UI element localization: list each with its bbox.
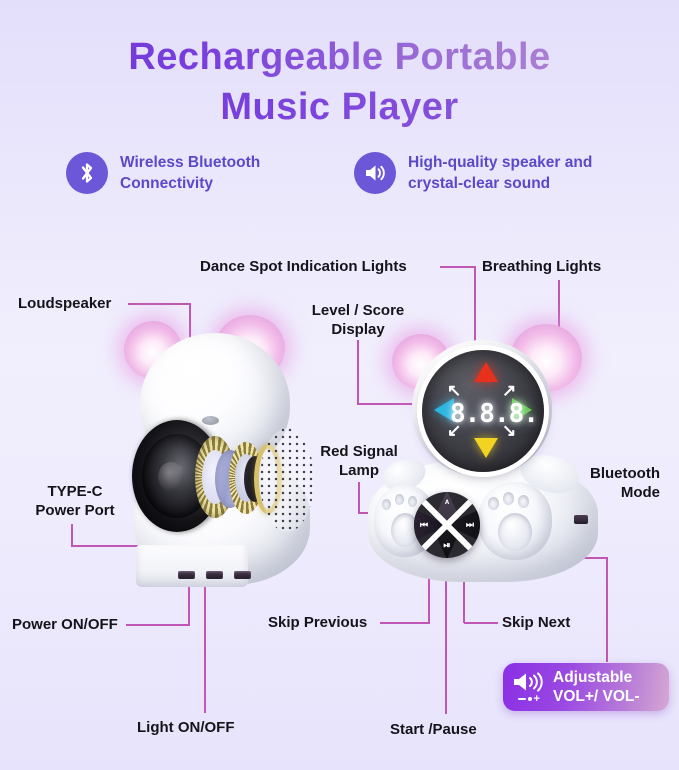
feature-bluetooth: Wireless Bluetooth Connectivity: [66, 152, 260, 194]
volume-speaker-icon: +: [512, 671, 546, 703]
product-stage: ↖ ↗ ↙ ↘ 8.8.8. ᴬ ⏮ ⏭ ⏯: [0, 240, 679, 640]
power-on-off-button[interactable]: [206, 571, 223, 579]
side-port-volume[interactable]: [574, 515, 588, 524]
paw-toe-3-right: [518, 495, 529, 508]
speaker-cone-highlight: [158, 462, 184, 492]
bluetooth-icon: [66, 152, 108, 194]
light-on-off-button[interactable]: [234, 571, 251, 579]
callout-light-on-off: Light ON/OFF: [137, 718, 234, 737]
feature-sound: High-quality speaker and crystal-clear s…: [354, 152, 592, 194]
exploded-loudspeaker-assembly: [132, 420, 292, 540]
title-line-1: Rechargeable Portable: [0, 32, 679, 82]
speaker-sound-icon: [354, 152, 396, 194]
paw-toe-1-left: [382, 499, 391, 510]
paw-toe-2-left: [395, 494, 404, 505]
feature-sound-label: High-quality speaker and crystal-clear s…: [408, 152, 592, 194]
volume-slider-glyph: +: [518, 695, 539, 703]
feature-bluetooth-label: Wireless Bluetooth Connectivity: [120, 152, 260, 194]
level-score-digits: 8.8.8.: [450, 399, 516, 429]
control-pad[interactable]: ᴬ ⏮ ⏭ ⏯: [414, 492, 480, 558]
bear-paw-right: [478, 482, 552, 560]
paw-toe-1-right: [488, 497, 499, 510]
bluetooth-icon: ᴬ: [445, 499, 449, 508]
skip-next-icon: ⏭: [466, 521, 474, 530]
infographic-page: Rechargeable Portable Music Player Wirel…: [0, 0, 679, 770]
adjustable-volume-badge: + AdjustableVOL+/ VOL-: [503, 663, 669, 711]
base-panel: [136, 545, 248, 587]
paw-pad-main-right: [498, 513, 532, 551]
speaker-grille-mesh: [260, 428, 314, 532]
bear-speaker-right: ↖ ↗ ↙ ↘ 8.8.8. ᴬ ⏮ ⏭ ⏯: [360, 310, 610, 620]
red-signal-lamp-triangle: [474, 362, 498, 382]
paw-toe-2-right: [503, 492, 514, 505]
dance-spot-arrow-upright: ↗: [502, 382, 516, 399]
type-c-power-port[interactable]: [178, 571, 195, 579]
badge-line-1: AdjustableVOL+/ VOL-: [553, 668, 640, 706]
yellow-indicator-triangle: [474, 438, 498, 458]
page-title: Rechargeable Portable Music Player: [0, 32, 679, 132]
bear-speaker-left: [110, 315, 340, 615]
title-line-2: Music Player: [0, 82, 679, 132]
skip-previous-icon: ⏮: [420, 521, 428, 530]
dance-spot-arrow-upleft: ↖: [447, 382, 461, 399]
callout-start-pause: Start /Pause: [390, 720, 477, 739]
feature-row: Wireless Bluetooth Connectivity High-qua…: [0, 152, 679, 214]
play-pause-icon: ⏯: [443, 541, 450, 550]
led-display-face[interactable]: ↖ ↗ ↙ ↘ 8.8.8.: [422, 350, 544, 472]
